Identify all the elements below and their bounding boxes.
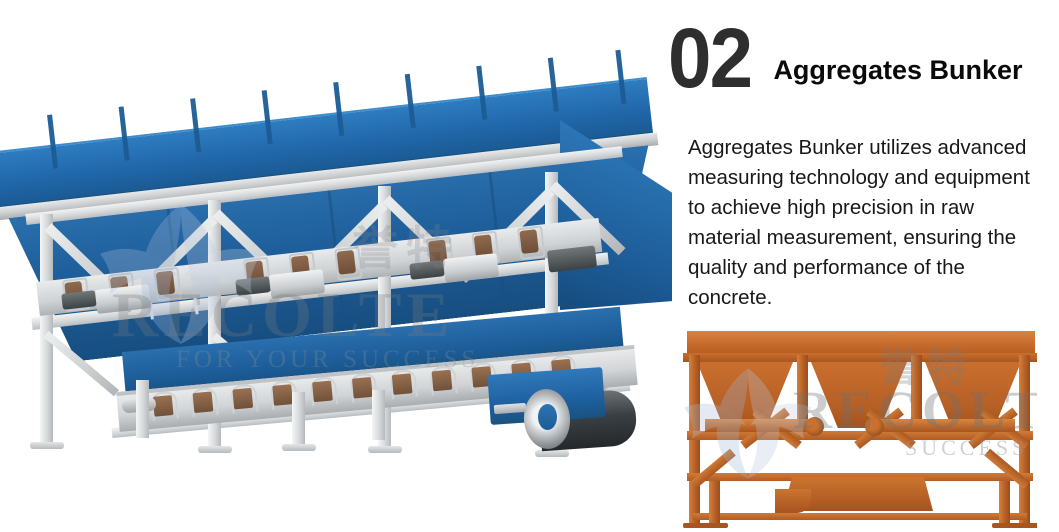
conveyor-post — [136, 380, 149, 438]
orange-top-rim — [687, 331, 1035, 355]
conveyor-post — [292, 392, 305, 448]
orange-weigh-conveyor — [705, 419, 813, 432]
orange-leg — [709, 481, 720, 525]
orange-beam — [693, 513, 1027, 520]
secondary-product-image: RECOLTE SUCCESS 誉特 — [683, 331, 1037, 529]
orange-leg — [999, 481, 1010, 525]
orange-pulley — [805, 417, 824, 436]
orange-bin-chute — [775, 489, 811, 513]
orange-column — [689, 355, 700, 527]
orange-lip — [683, 353, 1037, 362]
section-heading: 02 Aggregates Bunker — [668, 22, 1023, 94]
drum-hub — [538, 404, 557, 430]
conveyor-post — [372, 390, 385, 440]
section-title: Aggregates Bunker — [773, 55, 1022, 94]
orange-weigh-conveyor — [875, 419, 1015, 432]
orange-pulley — [865, 417, 884, 436]
section-number: 02 — [668, 22, 751, 94]
section-description: Aggregates Bunker utilizes advanced meas… — [688, 133, 1048, 313]
product-feature-banner: RECOLTE FOR YOUR SUCCESS 誉特 02 Aggregate… — [0, 0, 1059, 532]
main-product-image: RECOLTE FOR YOUR SUCCESS 誉特 — [0, 0, 672, 532]
